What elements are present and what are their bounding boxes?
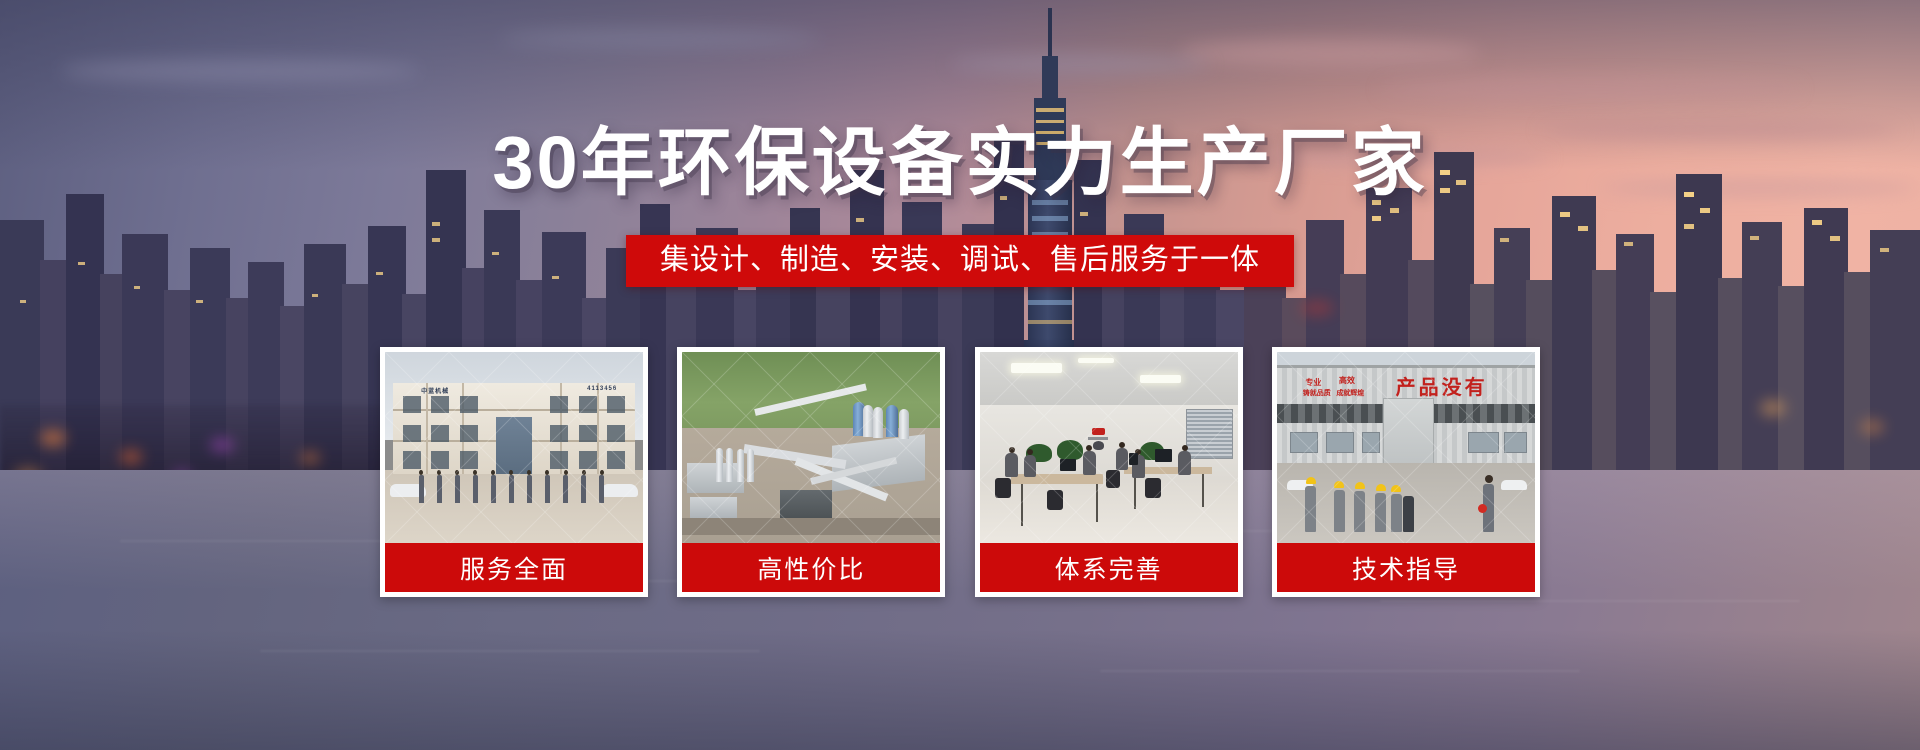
feature-card[interactable]: 产品没有 专业 高效 铸就品质 成就辉煌 — [1272, 347, 1540, 597]
subtitle-badge: 集设计、制造、安装、调试、售后服务于一体 — [626, 235, 1294, 287]
factory-slogan-4: 成就辉煌 — [1336, 388, 1364, 398]
factory-slogan-1: 专业 — [1305, 377, 1321, 388]
feature-card-label: 体系完善 — [980, 543, 1238, 592]
page-title: 30年环保设备实力生产厂家 — [0, 126, 1920, 200]
feature-card-label: 高性价比 — [682, 543, 940, 592]
factory-slogan-2: 高效 — [1339, 375, 1355, 386]
office-building-with-staff-photo: 中蓝机械 4113456 — [385, 352, 643, 543]
feature-card-label: 服务全面 — [385, 543, 643, 592]
feature-card-list: 中蓝机械 4113456 服务全面 — [380, 347, 1540, 597]
workers-in-hardhats-at-factory-photo: 产品没有 专业 高效 铸就品质 成就辉煌 — [1277, 352, 1535, 543]
feature-card[interactable]: 中蓝机械 4113456 服务全面 — [380, 347, 648, 597]
building-phone-text: 4113456 — [587, 386, 617, 392]
feature-card[interactable]: 高性价比 — [677, 347, 945, 597]
feature-card-label: 技术指导 — [1277, 543, 1535, 592]
hero-banner: 30年环保设备实力生产厂家 集设计、制造、安装、调试、售后服务于一体 — [0, 0, 1920, 750]
building-sign-text: 中蓝机械 — [421, 386, 449, 395]
subtitle-container: 集设计、制造、安装、调试、售后服务于一体 — [0, 235, 1920, 287]
factory-slogan-3: 铸就品质 — [1303, 388, 1331, 398]
aerial-industrial-plant-photo — [682, 352, 940, 543]
open-plan-office-interior-photo — [980, 352, 1238, 543]
feature-card[interactable]: 体系完善 — [975, 347, 1243, 597]
factory-banner-text: 产品没有 — [1396, 371, 1488, 400]
banner-content: 30年环保设备实力生产厂家 集设计、制造、安装、调试、售后服务于一体 — [0, 0, 1920, 750]
